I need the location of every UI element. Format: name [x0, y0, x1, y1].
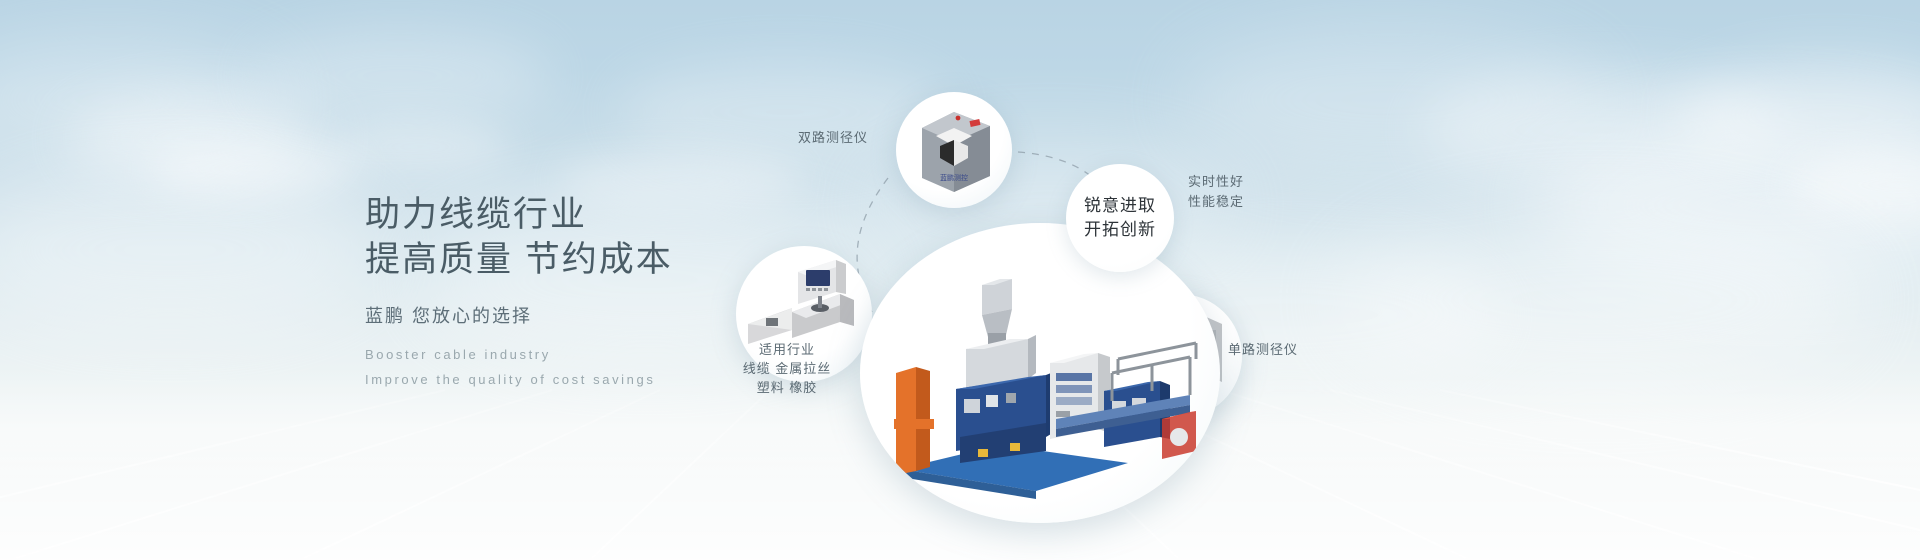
bubble-production-line — [860, 223, 1220, 523]
headline-line-2: 提高质量 节约成本 — [365, 237, 673, 282]
label-industry: 适用行业 线缆 金属拉丝 塑料 橡胶 — [722, 340, 852, 397]
industry-line-1: 线缆 金属拉丝 — [722, 359, 852, 378]
headline: 助力线缆行业 提高质量 节约成本 — [365, 192, 673, 282]
label-performance: 实时性好 性能稳定 — [1188, 172, 1244, 212]
bubble-slogan: 锐意进取 开拓创新 — [1066, 164, 1174, 272]
english-tagline: Booster cable industry Improve the quali… — [365, 342, 673, 392]
performance-line-1: 实时性好 — [1188, 172, 1244, 192]
industry-line-2: 塑料 橡胶 — [722, 378, 852, 397]
product-graphic-cluster: 蓝鹏测控 — [700, 60, 1320, 490]
label-dual-gauge: 双路测径仪 — [798, 128, 868, 147]
headline-line-1: 助力线缆行业 — [365, 192, 673, 237]
bubble-dual-gauge: 蓝鹏测控 — [896, 92, 1012, 208]
label-single-gauge: 单路测径仪 — [1228, 340, 1298, 359]
slogan-line-1: 锐意进取 — [1084, 194, 1156, 218]
performance-line-2: 性能稳定 — [1188, 192, 1244, 212]
english-line-1: Booster cable industry — [365, 342, 673, 367]
industry-title: 适用行业 — [722, 340, 852, 359]
slogan-line-2: 开拓创新 — [1084, 218, 1156, 242]
subheadline: 蓝鹏 您放心的选择 — [365, 302, 673, 328]
hero-banner: 助力线缆行业 提高质量 节约成本 蓝鹏 您放心的选择 Booster cable… — [0, 0, 1920, 560]
english-line-2: Improve the quality of cost savings — [365, 367, 673, 392]
hero-copy: 助力线缆行业 提高质量 节约成本 蓝鹏 您放心的选择 Booster cable… — [365, 192, 673, 392]
device-brand-mark: 蓝鹏测控 — [940, 173, 968, 182]
